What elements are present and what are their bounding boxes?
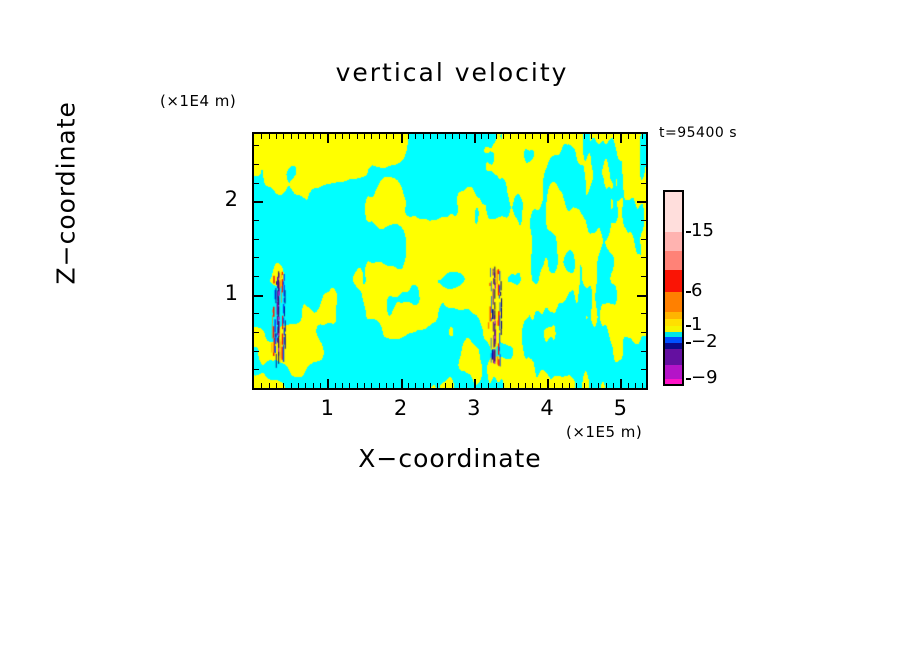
x-tick-major [547, 379, 549, 388]
colorbar [663, 190, 684, 386]
colorbar-band [665, 365, 682, 379]
x-tick-major-top [401, 134, 403, 143]
y-tick-minor [254, 276, 259, 277]
y-tick-major-right [637, 295, 646, 297]
y-tick-minor-right [641, 351, 646, 352]
x-tick-minor-top [532, 134, 533, 139]
x-tick-minor-top [496, 134, 497, 139]
y-tick-label: 1 [212, 281, 238, 305]
colorbar-band [665, 292, 682, 312]
x-tick-minor-top [554, 134, 555, 139]
x-tick-minor-top [305, 134, 306, 139]
x-tick-minor-top [488, 134, 489, 139]
x-tick-minor [393, 383, 394, 388]
x-tick-minor [466, 383, 467, 388]
x-tick-minor [532, 383, 533, 388]
x-tick-minor [305, 383, 306, 388]
x-tick-minor-top [635, 134, 636, 139]
x-tick-minor-top [503, 134, 504, 139]
y-tick-minor [254, 183, 259, 184]
x-tick-minor-top [349, 134, 350, 139]
x-tick-minor-top [342, 134, 343, 139]
colorbar-band [665, 192, 682, 232]
x-tick-minor-top [357, 134, 358, 139]
x-tick-minor [518, 383, 519, 388]
x-tick-minor [503, 383, 504, 388]
x-tick-minor-top [628, 134, 629, 139]
colorbar-band [665, 270, 682, 292]
x-tick-minor-top [576, 134, 577, 139]
x-tick-minor [613, 383, 614, 388]
x-tick-label: 4 [527, 396, 567, 420]
x-tick-minor [569, 383, 570, 388]
x-tick-minor-top [452, 134, 453, 139]
x-tick-minor [525, 383, 526, 388]
x-tick-minor [554, 383, 555, 388]
y-tick-minor [254, 332, 259, 333]
x-tick-minor-top [584, 134, 585, 139]
x-tick-minor [357, 383, 358, 388]
y-tick-minor [254, 369, 259, 370]
x-tick-minor [415, 383, 416, 388]
x-tick-minor-top [606, 134, 607, 139]
x-tick-minor-top [642, 134, 643, 139]
colorbar-label: 15 [691, 220, 714, 241]
x-tick-minor [445, 383, 446, 388]
x-tick-minor [276, 383, 277, 388]
x-tick-minor-top [335, 134, 336, 139]
x-tick-minor [423, 383, 424, 388]
x-axis-title: X−coordinate [250, 444, 650, 473]
x-tick-minor [371, 383, 372, 388]
colorbar-band [665, 319, 682, 326]
x-tick-minor [437, 383, 438, 388]
x-tick-minor-top [598, 134, 599, 139]
x-tick-minor [459, 383, 460, 388]
x-tick-minor [598, 383, 599, 388]
colorbar-band [665, 349, 682, 365]
colorbar-label: 6 [691, 280, 702, 301]
x-tick-minor-top [510, 134, 511, 139]
y-tick-minor-right [641, 239, 646, 240]
x-tick-minor-top [562, 134, 563, 139]
x-tick-minor-top [393, 134, 394, 139]
x-tick-minor-top [269, 134, 270, 139]
x-tick-minor [408, 383, 409, 388]
y-tick-minor-right [641, 145, 646, 146]
x-tick-minor [364, 383, 365, 388]
x-tick-minor [342, 383, 343, 388]
colorbar-label: −9 [691, 367, 718, 388]
x-tick-major [474, 379, 476, 388]
x-tick-minor [584, 383, 585, 388]
x-tick-minor-top [320, 134, 321, 139]
x-tick-minor-top [371, 134, 372, 139]
x-tick-major [620, 379, 622, 388]
y-tick-minor-right [641, 164, 646, 165]
y-tick-minor [254, 220, 259, 221]
contour-plot-area [252, 132, 648, 390]
x-tick-label: 2 [381, 396, 421, 420]
x-tick-minor [540, 383, 541, 388]
y-tick-minor-right [641, 276, 646, 277]
x-tick-label: 3 [454, 396, 494, 420]
colorbar-band [665, 379, 682, 384]
y-tick-minor [254, 313, 259, 314]
y-tick-minor [254, 164, 259, 165]
x-tick-minor [488, 383, 489, 388]
colorbar-band [665, 232, 682, 251]
x-tick-minor [320, 383, 321, 388]
x-tick-minor [496, 383, 497, 388]
x-tick-minor [269, 383, 270, 388]
x-tick-label: 5 [600, 396, 640, 420]
x-tick-minor-top [445, 134, 446, 139]
y-axis-unit-label: (×1E4 m) [160, 92, 236, 110]
x-tick-minor [386, 383, 387, 388]
y-tick-minor [254, 239, 259, 240]
time-annotation: t=95400 s [659, 125, 737, 141]
x-axis-unit-label: (×1E5 m) [566, 423, 642, 441]
y-tick-minor [254, 351, 259, 352]
x-tick-minor-top [408, 134, 409, 139]
x-tick-minor [283, 383, 284, 388]
y-tick-minor [254, 145, 259, 146]
x-tick-major-top [547, 134, 549, 143]
x-tick-minor-top [518, 134, 519, 139]
y-tick-minor-right [641, 257, 646, 258]
x-tick-minor-top [591, 134, 592, 139]
y-tick-minor [254, 257, 259, 258]
y-tick-minor-right [641, 332, 646, 333]
colorbar-band [665, 251, 682, 270]
y-tick-label: 2 [212, 187, 238, 211]
x-tick-label: 1 [307, 396, 347, 420]
y-tick-minor-right [641, 313, 646, 314]
x-tick-minor-top [379, 134, 380, 139]
x-tick-minor [452, 383, 453, 388]
x-tick-minor [510, 383, 511, 388]
contour-field [254, 134, 646, 388]
x-tick-minor-top [466, 134, 467, 139]
x-tick-minor-top [525, 134, 526, 139]
x-tick-minor-top [459, 134, 460, 139]
x-tick-major [327, 379, 329, 388]
x-tick-major [401, 379, 403, 388]
x-tick-minor-top [298, 134, 299, 139]
x-tick-minor-top [423, 134, 424, 139]
x-tick-minor-top [437, 134, 438, 139]
x-tick-minor-top [540, 134, 541, 139]
x-tick-minor-top [481, 134, 482, 139]
x-tick-minor [576, 383, 577, 388]
x-tick-minor [261, 383, 262, 388]
x-tick-minor [562, 383, 563, 388]
x-tick-minor [349, 383, 350, 388]
y-axis-title: Z−coordinate [52, 125, 81, 285]
page-title: vertical velocity [0, 58, 904, 87]
x-tick-minor [635, 383, 636, 388]
y-tick-minor-right [641, 183, 646, 184]
x-tick-minor [628, 383, 629, 388]
colorbar-label: −2 [691, 331, 718, 352]
colorbar-band [665, 312, 682, 319]
x-tick-minor [591, 383, 592, 388]
x-tick-minor [291, 383, 292, 388]
x-tick-minor [313, 383, 314, 388]
y-tick-minor-right [641, 369, 646, 370]
x-tick-minor [379, 383, 380, 388]
y-tick-major [254, 201, 263, 203]
x-tick-minor [430, 383, 431, 388]
x-tick-minor [481, 383, 482, 388]
x-tick-minor [298, 383, 299, 388]
x-tick-minor-top [569, 134, 570, 139]
x-tick-minor [606, 383, 607, 388]
x-tick-minor-top [415, 134, 416, 139]
x-tick-minor-top [276, 134, 277, 139]
x-tick-minor-top [386, 134, 387, 139]
y-tick-major-right [637, 201, 646, 203]
y-tick-major [254, 295, 263, 297]
x-tick-minor-top [261, 134, 262, 139]
x-tick-minor-top [283, 134, 284, 139]
x-tick-minor [335, 383, 336, 388]
x-tick-major-top [620, 134, 622, 143]
y-tick-minor-right [641, 220, 646, 221]
x-tick-minor-top [613, 134, 614, 139]
x-tick-minor-top [364, 134, 365, 139]
x-tick-minor-top [430, 134, 431, 139]
x-tick-minor [642, 383, 643, 388]
x-tick-major-top [327, 134, 329, 143]
x-tick-minor-top [313, 134, 314, 139]
x-tick-major-top [474, 134, 476, 143]
x-tick-minor-top [291, 134, 292, 139]
